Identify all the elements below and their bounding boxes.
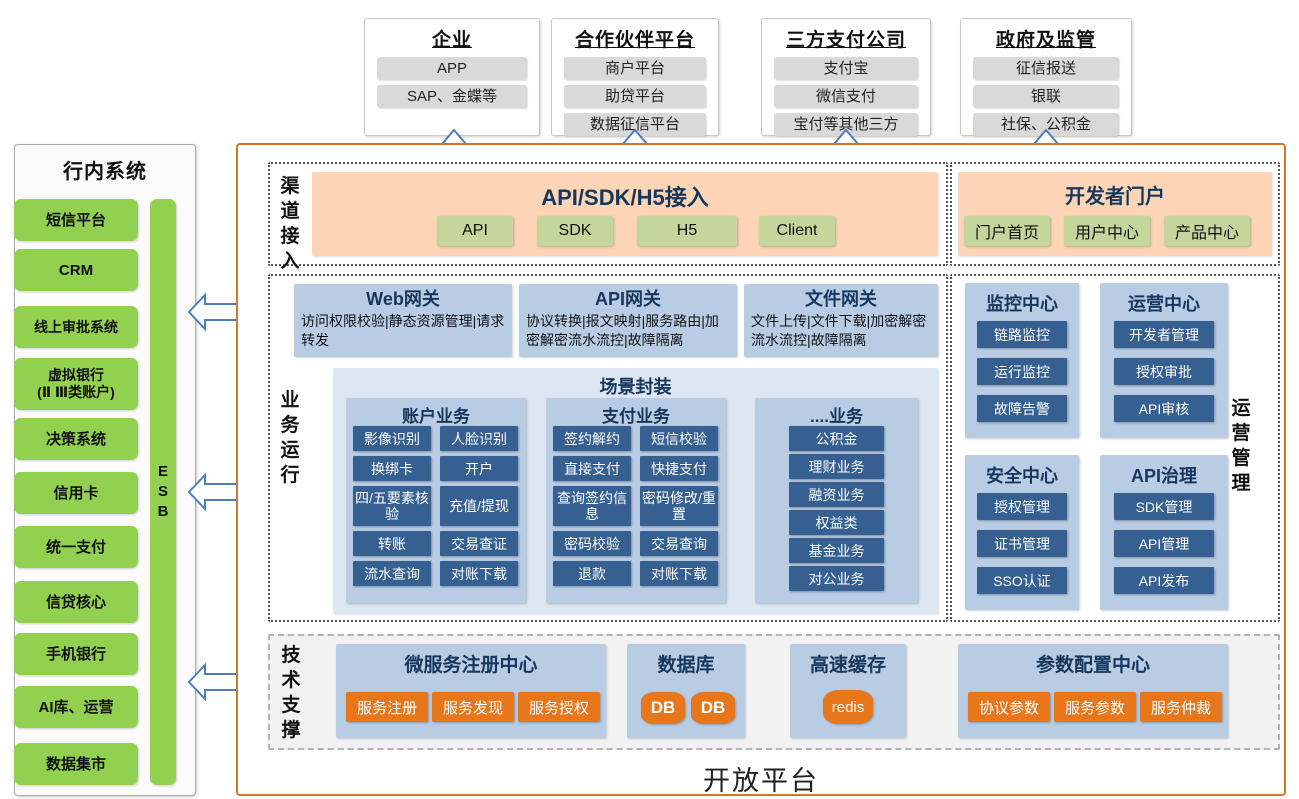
gateway-title: API网关	[526, 288, 730, 311]
tech-chip-redis[interactable]: redis	[823, 690, 873, 724]
business-group-payment: 支付业务 签约解约 短信校验 直接支付 快捷支付 查询签约信息 密码修改/重置 …	[546, 398, 726, 603]
scene-encapsulation-title: 场景封装	[333, 373, 938, 399]
external-party-card-enterprise: 企业 APP SAP、金蝶等	[364, 18, 540, 136]
business-chip-recharge-withdraw[interactable]: 充值/提现	[440, 486, 518, 526]
business-chip-direct-pay[interactable]: 直接支付	[553, 456, 631, 481]
scene-encapsulation-card: 场景封装 账户业务 影像识别 人脸识别 换绑卡 开户 四/五要素核验 充值/提现…	[333, 368, 938, 614]
gateway-title: 文件网关	[751, 288, 931, 311]
ops-chip-api-management[interactable]: API管理	[1114, 530, 1214, 557]
gateway-title: Web网关	[301, 288, 505, 311]
tech-chip-service-discovery[interactable]: 服务发现	[432, 692, 514, 722]
external-party-item: 商户平台	[564, 57, 707, 80]
bank-system-item-decision[interactable]: 决策系统	[14, 418, 138, 460]
tech-chip-service-parameter[interactable]: 服务参数	[1054, 692, 1136, 722]
business-chip-financing[interactable]: 融资业务	[789, 482, 884, 507]
gateway-card-api: API网关 协议转换|报文映射|服务路由|加密解密流水流控|故障隔离	[519, 284, 737, 357]
gateway-description: 访问权限校验|静态资源管理|请求转发	[301, 312, 505, 350]
bank-system-item-virtual-bank[interactable]: 虚拟银行 (Ⅱ Ⅲ类账户)	[14, 358, 138, 410]
external-party-item: APP	[377, 57, 527, 80]
tech-card-microservice-registry: 微服务注册中心 服务注册 服务发现 服务授权	[336, 644, 606, 738]
bank-system-item-data-mart[interactable]: 数据集市	[14, 743, 138, 785]
business-group-account: 账户业务 影像识别 人脸识别 换绑卡 开户 四/五要素核验 充值/提现 转账 交…	[346, 398, 526, 603]
bank-system-item-unified-payment[interactable]: 统一支付	[14, 526, 138, 568]
ops-chip-sso-auth[interactable]: SSO认证	[977, 567, 1067, 594]
gateway-card-file: 文件网关 文件上传|文件下载|加密解密流水流控|故障隔离	[744, 284, 938, 357]
architecture-diagram: 企业 APP SAP、金蝶等 合作伙伴平台 商户平台 助贷平台 数据征信平台 三…	[0, 0, 1299, 799]
ops-chip-link-monitoring[interactable]: 链路监控	[977, 321, 1067, 348]
ops-card-title: API治理	[1100, 462, 1228, 488]
ops-chip-runtime-monitoring[interactable]: 运行监控	[977, 358, 1067, 385]
tech-chip-db-secondary[interactable]: DB	[691, 692, 735, 724]
tech-card-title: 参数配置中心	[958, 650, 1228, 677]
ops-card-title: 运营中心	[1100, 290, 1228, 316]
bank-system-item-online-approval[interactable]: 线上审批系统	[14, 306, 138, 348]
tech-chip-service-register[interactable]: 服务注册	[346, 692, 428, 722]
business-chip-flow-query[interactable]: 流水查询	[353, 561, 431, 586]
ops-card-monitoring-center: 监控中心 链路监控 运行监控 故障告警	[965, 283, 1079, 438]
external-party-card-partner-platform: 合作伙伴平台 商户平台 助贷平台 数据征信平台	[551, 18, 719, 136]
external-party-title: 政府及监管	[996, 25, 1096, 52]
tech-card-title: 微服务注册中心	[336, 650, 606, 677]
bank-system-item-credit-card[interactable]: 信用卡	[14, 472, 138, 514]
bank-system-item-ai-ops[interactable]: AI库、运营	[14, 686, 138, 728]
business-chip-rebind-card[interactable]: 换绑卡	[353, 456, 431, 481]
business-chip-corporate[interactable]: 对公业务	[789, 566, 884, 591]
api-sdk-h5-access-title: API/SDK/H5接入	[312, 180, 938, 212]
tech-card-title: 高速缓存	[790, 650, 906, 677]
technical-support-vertical-label: 技术支撑	[278, 643, 304, 743]
ops-card-title: 安全中心	[965, 462, 1079, 488]
business-chip-image-recognition[interactable]: 影像识别	[353, 426, 431, 451]
business-chip-password-change-reset[interactable]: 密码修改/重置	[640, 486, 718, 526]
tech-chip-service-arbitration[interactable]: 服务仲裁	[1140, 692, 1222, 722]
business-chip-transfer[interactable]: 转账	[353, 531, 431, 556]
channel-chip-sdk[interactable]: SDK	[537, 216, 613, 246]
business-chip-fund[interactable]: 基金业务	[789, 538, 884, 563]
ops-chip-developer-management[interactable]: 开发者管理	[1114, 321, 1214, 348]
portal-chip-user-center[interactable]: 用户中心	[1064, 216, 1150, 246]
esb-bus: E S B	[150, 199, 176, 785]
business-operation-vertical-label: 业务运行	[277, 388, 303, 488]
external-party-card-government-regulator: 政府及监管 征信报送 银联 社保、公积金	[960, 18, 1132, 136]
external-party-item: 助贷平台	[564, 85, 707, 108]
business-chip-wealth-management[interactable]: 理财业务	[789, 454, 884, 479]
business-chip-transaction-verify[interactable]: 交易查证	[440, 531, 518, 556]
external-party-title: 企业	[432, 25, 472, 52]
channel-access-vertical-label: 渠道接入	[277, 174, 303, 274]
developer-portal-card: 开发者门户 门户首页 用户中心 产品中心	[958, 172, 1272, 256]
bank-system-item-mobile-bank[interactable]: 手机银行	[14, 633, 138, 675]
external-party-item: 征信报送	[973, 57, 1119, 80]
external-party-item: 支付宝	[774, 57, 918, 80]
esb-label-e: E	[158, 462, 168, 482]
tech-card-database: 数据库 DB DB	[627, 644, 745, 738]
channel-chip-client[interactable]: Client	[759, 216, 835, 246]
bank-system-item-sms[interactable]: 短信平台	[14, 199, 138, 241]
business-chip-quick-pay[interactable]: 快捷支付	[640, 456, 718, 481]
business-chip-refund[interactable]: 退款	[553, 561, 631, 586]
ops-card-operation-center: 运营中心 开发者管理 授权审批 API审核	[1100, 283, 1228, 438]
ops-chip-authorization-approval[interactable]: 授权审批	[1114, 358, 1214, 385]
channel-chip-h5[interactable]: H5	[637, 216, 737, 246]
business-chip-face-recognition[interactable]: 人脸识别	[440, 426, 518, 451]
ops-chip-fault-alarm[interactable]: 故障告警	[977, 395, 1067, 422]
business-group-title: 支付业务	[546, 402, 726, 427]
external-party-card-third-party-payment: 三方支付公司 支付宝 微信支付 宝付等其他三方	[761, 18, 931, 136]
bank-system-item-crm[interactable]: CRM	[14, 249, 138, 291]
external-party-item: 银联	[973, 85, 1119, 108]
ops-chip-certificate-management[interactable]: 证书管理	[977, 530, 1067, 557]
business-chip-sms-verify[interactable]: 短信校验	[640, 426, 718, 451]
business-chip-sign-unsign[interactable]: 签约解约	[553, 426, 631, 451]
tech-chip-protocol-parameter[interactable]: 协议参数	[968, 692, 1050, 722]
external-party-item: 微信支付	[774, 85, 918, 108]
ops-card-api-governance: API治理 SDK管理 API管理 API发布	[1100, 455, 1228, 610]
business-group-title: ....业务	[755, 402, 918, 427]
external-party-title: 合作伙伴平台	[575, 25, 695, 52]
ops-card-title: 监控中心	[965, 290, 1079, 316]
tech-chip-db-primary[interactable]: DB	[641, 692, 685, 724]
ops-chip-sdk-management[interactable]: SDK管理	[1114, 493, 1214, 520]
tech-card-high-speed-cache: 高速缓存 redis	[790, 644, 906, 738]
tech-chip-service-authorization[interactable]: 服务授权	[518, 692, 600, 722]
bank-systems-title: 行内系统	[15, 155, 195, 184]
business-chip-element-verify[interactable]: 四/五要素核验	[353, 486, 431, 526]
business-chip-statement-download[interactable]: 对账下载	[440, 561, 518, 586]
business-chip-rights[interactable]: 权益类	[789, 510, 884, 535]
business-group-other: ....业务 公积金 理财业务 融资业务 权益类 基金业务 对公业务	[755, 398, 918, 603]
external-party-title: 三方支付公司	[786, 25, 906, 52]
esb-label-s: S	[158, 482, 168, 502]
business-group-title: 账户业务	[346, 402, 526, 427]
business-chip-password-verify[interactable]: 密码校验	[553, 531, 631, 556]
gateway-description: 文件上传|文件下载|加密解密流水流控|故障隔离	[751, 312, 931, 350]
business-chip-statement-download-pay[interactable]: 对账下载	[640, 561, 718, 586]
gateway-description: 协议转换|报文映射|服务路由|加密解密流水流控|故障隔离	[526, 312, 730, 350]
ops-chip-api-publish[interactable]: API发布	[1114, 567, 1214, 594]
bank-system-item-credit-core[interactable]: 信贷核心	[14, 581, 138, 623]
business-chip-query-sign-info[interactable]: 查询签约信息	[553, 486, 631, 526]
business-chip-transaction-query[interactable]: 交易查询	[640, 531, 718, 556]
portal-chip-product-center[interactable]: 产品中心	[1164, 216, 1250, 246]
business-chip-housing-fund[interactable]: 公积金	[789, 426, 884, 451]
tech-card-title: 数据库	[627, 650, 745, 677]
tech-card-parameter-config-center: 参数配置中心 协议参数 服务参数 服务仲裁	[958, 644, 1228, 738]
channel-chip-api[interactable]: API	[437, 216, 513, 246]
operations-management-vertical-label: 运营管理	[1228, 396, 1254, 496]
business-chip-open-account[interactable]: 开户	[440, 456, 518, 481]
api-sdk-h5-access-card: API/SDK/H5接入 API SDK H5 Client	[312, 172, 938, 256]
developer-portal-title: 开发者门户	[958, 180, 1272, 209]
esb-label-b: B	[158, 502, 169, 522]
external-party-item: SAP、金蝶等	[377, 85, 527, 108]
open-platform-title: 开放平台	[236, 759, 1286, 798]
portal-chip-home[interactable]: 门户首页	[964, 216, 1050, 246]
ops-card-security-center: 安全中心 授权管理 证书管理 SSO认证	[965, 455, 1079, 610]
gateway-card-web: Web网关 访问权限校验|静态资源管理|请求转发	[294, 284, 512, 357]
ops-chip-api-review[interactable]: API审核	[1114, 395, 1214, 422]
ops-chip-authorization-management[interactable]: 授权管理	[977, 493, 1067, 520]
